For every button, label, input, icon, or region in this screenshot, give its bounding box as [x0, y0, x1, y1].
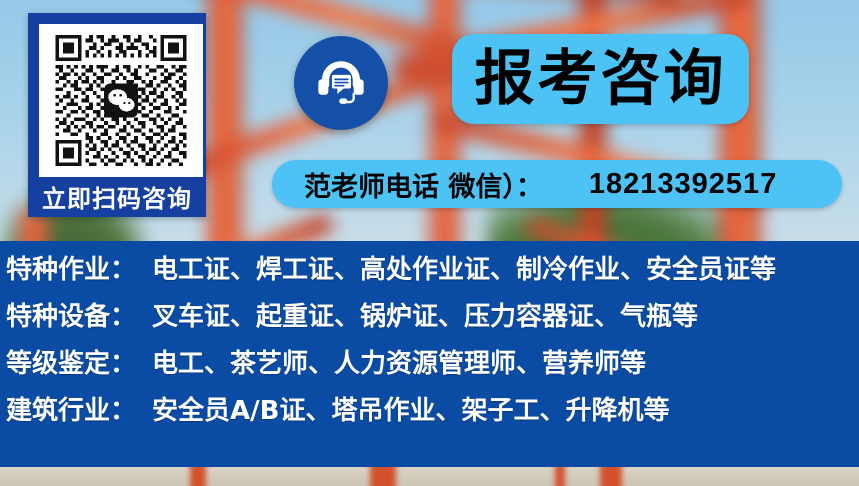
category-row: 等级鉴定： 电工、茶艺师、人力资源管理师、营养师等	[0, 343, 859, 390]
crane-beam	[555, 467, 565, 486]
category-row: 特种作业： 电工证、焊工证、高处作业证、制冷作业、安全员证等	[0, 249, 859, 296]
category-row: 特种设备： 叉车证、起重证、锅炉证、压力容器证、气瓶等	[0, 296, 859, 343]
qr-code-image[interactable]	[39, 24, 203, 177]
contact-pill[interactable]: 范老师电话 微信）： 18213392517	[272, 160, 842, 208]
category-row: 建筑行业： 安全员A/B证、塔吊作业、架子工、升降机等	[0, 390, 859, 437]
category-items: 电工、茶艺师、人力资源管理师、营养师等	[152, 343, 646, 380]
crane-beam	[190, 467, 206, 486]
crane-beam	[600, 467, 622, 486]
category-items: 叉车证、起重证、锅炉证、压力容器证、气瓶等	[152, 296, 698, 333]
qr-code-svg	[46, 31, 196, 170]
contact-phone-number[interactable]: 18213392517	[589, 168, 777, 201]
category-list-band: 特种作业： 电工证、焊工证、高处作业证、制冷作业、安全员证等 特种设备： 叉车证…	[0, 241, 859, 467]
category-items: 电工证、焊工证、高处作业证、制冷作业、安全员证等	[152, 249, 776, 286]
bottom-photo-layer	[0, 467, 859, 486]
category-name: 特种设备：	[6, 296, 136, 333]
category-name: 等级鉴定：	[6, 343, 136, 380]
title-pill: 报考咨询	[452, 34, 749, 124]
page-title: 报考咨询	[475, 49, 727, 109]
qr-code-card[interactable]: 立即扫码咨询	[28, 13, 206, 217]
bottom-photo-strip	[0, 467, 859, 486]
headset-support-icon	[312, 54, 370, 112]
headset-support-badge	[294, 36, 388, 130]
category-name: 建筑行业：	[6, 390, 136, 427]
promo-poster: 立即扫码咨询 报考咨询 范老师电话 微信）： 18213392517 特种	[0, 0, 859, 486]
category-items: 安全员A/B证、塔吊作业、架子工、升降机等	[152, 390, 669, 427]
category-name: 特种作业：	[6, 249, 136, 286]
crane-beam	[370, 467, 396, 486]
contact-label: 范老师电话 微信）：	[304, 165, 543, 204]
qr-caption-label: 立即扫码咨询	[39, 177, 195, 221]
